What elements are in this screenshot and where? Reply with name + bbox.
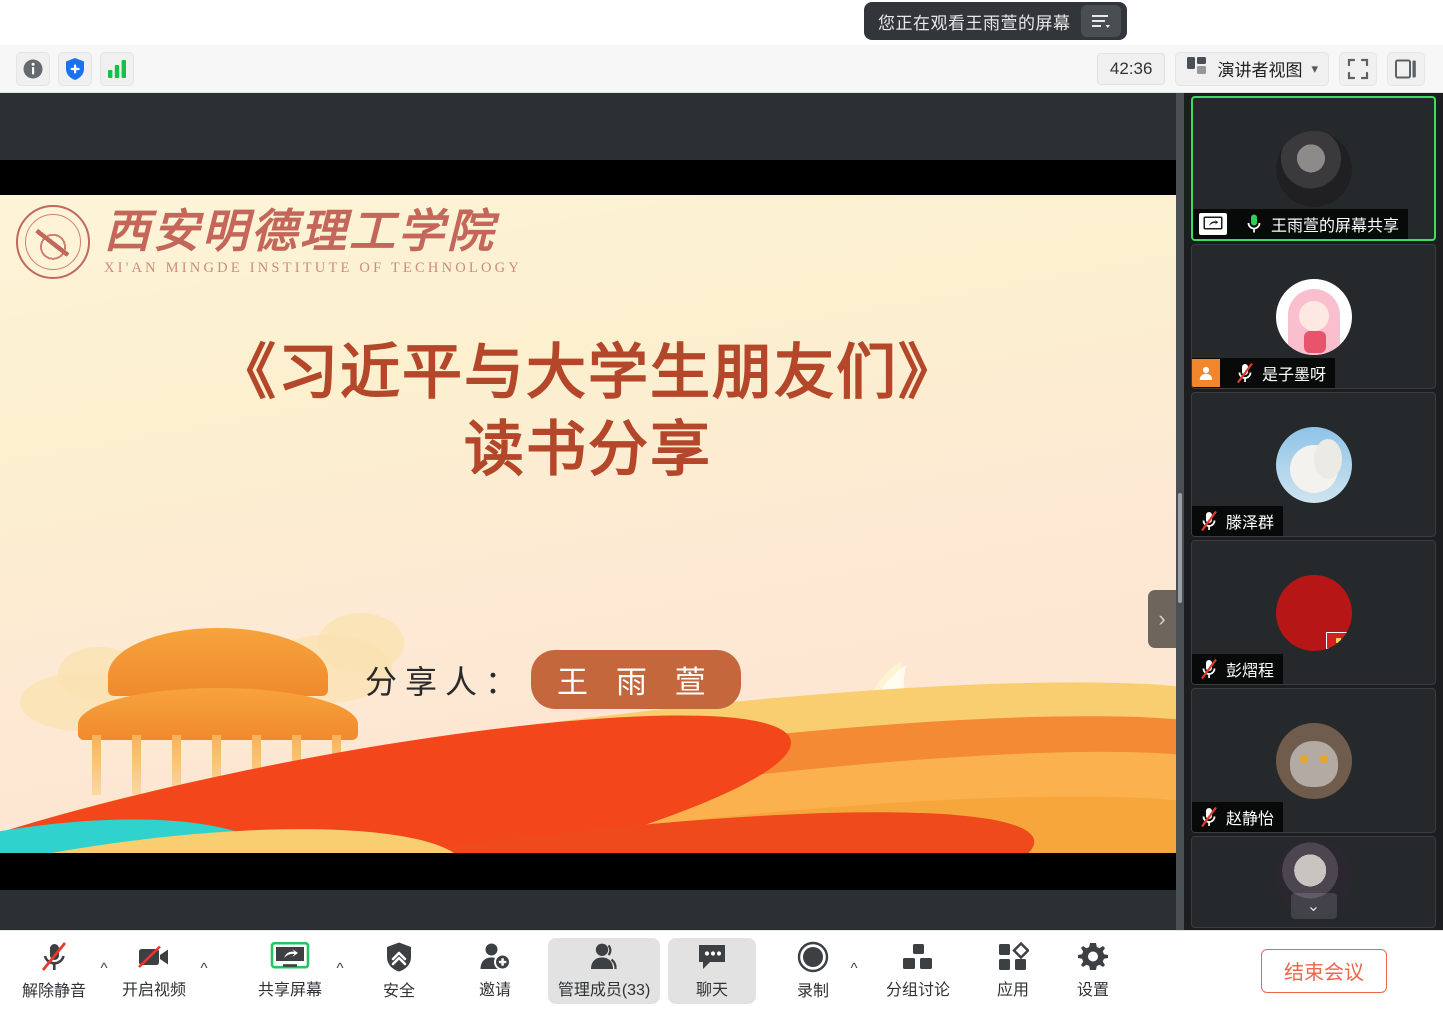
side-panel-icon[interactable] xyxy=(1387,52,1425,86)
record-icon xyxy=(797,941,829,973)
mic-muted-icon xyxy=(1198,806,1220,828)
viewing-banner[interactable]: 您正在观看王雨萱的屏幕 xyxy=(864,2,1127,40)
presenter-label: 分享人： xyxy=(365,657,525,703)
slide-title-line2: 读书分享 xyxy=(0,412,1176,489)
meeting-controls: 解除静音 ^ 开启视频 ^ xyxy=(0,930,1443,1010)
signal-bars-icon[interactable] xyxy=(100,52,134,86)
control-label: 设置 xyxy=(1077,976,1109,1000)
participant-name: 王雨萱的屏幕共享 xyxy=(1271,212,1399,236)
zoom-meeting-window: 您正在观看王雨萱的屏幕 xyxy=(0,0,1443,1010)
mic-muted-icon xyxy=(39,941,69,973)
slide-title-line1: 《习近平与大学生朋友们》 xyxy=(216,338,960,408)
school-seal-icon xyxy=(16,205,90,279)
chat-bubble-icon xyxy=(696,942,728,972)
control-label: 聊天 xyxy=(696,976,728,1000)
chevron-right-icon[interactable]: › xyxy=(1148,590,1176,648)
control-label: 开启视频 xyxy=(122,976,186,1000)
control-label: 录制 xyxy=(797,977,829,1001)
person-dark-avatar xyxy=(1276,131,1352,207)
video-off-icon xyxy=(137,942,171,972)
school-name-cn: 西安明德理工学院 xyxy=(104,208,522,254)
participant-tile[interactable]: 赵静怡 xyxy=(1191,688,1436,833)
school-logo: 西安明德理工学院 XI'AN MINGDE INSTITUTE OF TECHN… xyxy=(16,205,522,279)
breakout-rooms-button[interactable]: 分组讨论 xyxy=(878,938,958,1004)
start-video-button[interactable]: 开启视频 xyxy=(114,938,194,1004)
stage-scrollbar[interactable] xyxy=(1176,93,1184,930)
cat-avatar xyxy=(1276,723,1352,799)
view-mode-label: 演讲者视图 xyxy=(1217,56,1302,81)
invite-button[interactable]: 邀请 xyxy=(464,938,526,1004)
red-calligraphy-avatar xyxy=(1276,575,1352,651)
control-label: 分组讨论 xyxy=(886,976,950,1000)
fullscreen-icon[interactable] xyxy=(1339,52,1377,86)
participant-name: 彭熠程 xyxy=(1226,657,1274,681)
participant-tile[interactable]: ⌄ xyxy=(1191,836,1436,928)
video-options-caret[interactable]: ^ xyxy=(194,938,214,1004)
security-shield-icon xyxy=(385,941,413,973)
meeting-timer: 42:36 xyxy=(1097,53,1166,85)
control-label: 邀请 xyxy=(479,976,511,1000)
presenter-row: 分享人： 王 雨 萱 xyxy=(365,650,741,709)
screen-share-icon xyxy=(270,942,310,972)
audio-options-caret[interactable]: ^ xyxy=(94,938,114,1004)
participant-label: 彭熠程 xyxy=(1192,654,1283,684)
letterbox-bottom xyxy=(0,853,1176,890)
participant-tile[interactable]: 滕泽群 xyxy=(1191,392,1436,537)
gear-icon xyxy=(1078,942,1108,972)
mic-on-icon xyxy=(1243,213,1265,235)
record-options-caret[interactable]: ^ xyxy=(844,938,864,1004)
participant-name: 滕泽群 xyxy=(1226,509,1274,533)
goat-avatar xyxy=(1276,427,1352,503)
share-screen-button[interactable]: 共享屏幕 xyxy=(250,938,330,1004)
settings-button[interactable]: 设置 xyxy=(1062,938,1124,1004)
presenter-name: 王 雨 萱 xyxy=(531,650,741,709)
participants-icon xyxy=(588,942,620,972)
record-button[interactable]: 录制 xyxy=(782,938,844,1004)
info-icon[interactable] xyxy=(16,52,50,86)
apps-button[interactable]: 应用 xyxy=(982,938,1044,1004)
add-person-icon xyxy=(479,942,511,972)
share-options-caret[interactable]: ^ xyxy=(330,938,350,1004)
end-meeting-button[interactable]: 结束会议 xyxy=(1261,949,1387,993)
presentation-slide: 西安明德理工学院 XI'AN MINGDE INSTITUTE OF TECHN… xyxy=(0,195,1176,853)
letterbox-top xyxy=(0,160,1176,195)
slide-title: 《习近平与大学生朋友们》 读书分享 xyxy=(0,335,1176,489)
screen-share-icon xyxy=(1199,213,1227,235)
participant-label: 赵静怡 xyxy=(1192,802,1283,832)
view-mode-select[interactable]: 演讲者视图 ▾ xyxy=(1175,52,1329,86)
school-name-en: XI'AN MINGDE INSTITUTE OF TECHNOLOGY xyxy=(104,260,522,277)
manage-participants-button[interactable]: 管理成员(33) xyxy=(548,938,660,1004)
participant-tile[interactable]: 彭熠程 xyxy=(1191,540,1436,685)
participant-label: 王雨萱的屏幕共享 xyxy=(1193,209,1408,239)
participant-name: 赵静怡 xyxy=(1226,805,1274,829)
layout-icon xyxy=(1186,56,1208,81)
apps-icon xyxy=(997,942,1029,972)
shield-plus-icon[interactable] xyxy=(58,52,92,86)
viewing-banner-text: 您正在观看王雨萱的屏幕 xyxy=(878,9,1071,34)
control-label: 安全 xyxy=(383,977,415,1001)
control-label: 共享屏幕 xyxy=(258,976,322,1000)
mic-muted-icon xyxy=(1198,510,1220,532)
participant-label: 是子墨呀 xyxy=(1192,358,1335,388)
chat-button[interactable]: 聊天 xyxy=(668,938,756,1004)
mic-muted-icon xyxy=(1198,658,1220,680)
host-badge-icon xyxy=(1192,359,1220,387)
shared-screen-stage: 西安明德理工学院 XI'AN MINGDE INSTITUTE OF TECHN… xyxy=(0,93,1176,930)
participant-name: 是子墨呀 xyxy=(1262,361,1326,385)
breakout-rooms-icon xyxy=(902,942,934,972)
top-strip: 您正在观看王雨萱的屏幕 xyxy=(0,0,1443,45)
control-label: 解除静音 xyxy=(22,977,86,1001)
control-label: 应用 xyxy=(997,976,1029,1000)
participant-label: 滕泽群 xyxy=(1192,506,1283,536)
meeting-toolbar: 42:36 演讲者视图 ▾ xyxy=(0,45,1443,93)
control-label: 管理成员(33) xyxy=(558,976,650,1000)
pink-girl-avatar xyxy=(1276,279,1352,355)
participant-tile[interactable]: 是子墨呀 xyxy=(1191,244,1436,389)
list-menu-icon[interactable] xyxy=(1081,5,1121,37)
chevron-down-icon: ▾ xyxy=(1311,61,1318,77)
security-button[interactable]: 安全 xyxy=(368,938,430,1004)
participant-tile[interactable]: 王雨萱的屏幕共享 xyxy=(1191,96,1436,241)
chevron-down-icon[interactable]: ⌄ xyxy=(1291,893,1337,919)
unmute-button[interactable]: 解除静音 xyxy=(14,938,94,1004)
mic-muted-icon xyxy=(1234,362,1256,384)
participant-rail: 王雨萱的屏幕共享 xyxy=(1184,93,1443,930)
